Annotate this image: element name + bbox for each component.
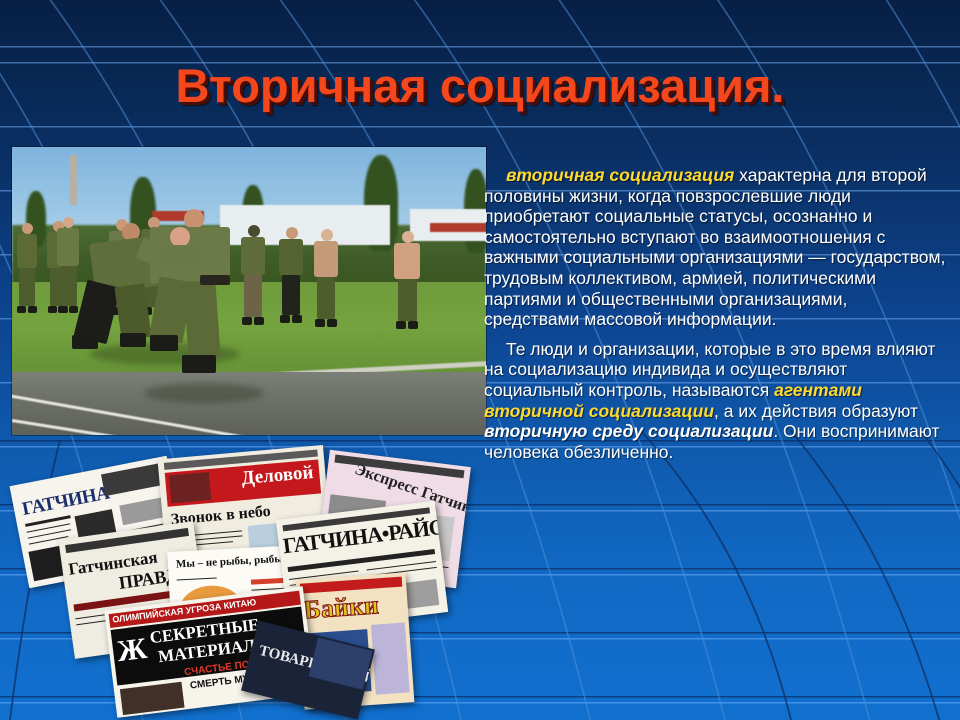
paragraph-1-rest: характерна для второй половины жизни, ко…	[484, 165, 945, 329]
newspaper-collage-photo: ГАТЧИНА Деловой Звонок в небо	[10, 448, 470, 710]
paragraph-1: вторичная социализация характерна для вт…	[484, 165, 946, 330]
presentation-slide: Вторичная социализация.	[0, 0, 960, 720]
paragraph-2: Те люди и организации, которые в это вре…	[484, 339, 946, 463]
term-secondary-environment: вторичную среду социализации	[484, 421, 773, 441]
newspaper-masthead: Байки	[303, 592, 380, 623]
paragraph-2-part-2: , а их действия образуют	[714, 401, 918, 421]
term-secondary-socialization: вторичная социализация	[506, 165, 734, 185]
photo-soldier	[392, 231, 422, 331]
paragraph-2-part-1: Те люди и организации, которые в это вре…	[484, 339, 935, 400]
photo-soldier	[278, 227, 304, 325]
photo-soldier-carried	[160, 225, 200, 265]
photo-soldier	[312, 229, 340, 329]
slide-title: Вторичная социализация.	[0, 58, 960, 113]
photo-roof	[430, 223, 486, 232]
newspaper-x-logo: Ж	[116, 634, 149, 667]
photo-soldier	[16, 223, 38, 315]
slide-body-text: вторичная социализация характерна для вт…	[484, 165, 946, 471]
military-training-photo	[12, 147, 486, 435]
photo-chimney	[70, 155, 77, 205]
photo-shadow	[144, 383, 264, 403]
